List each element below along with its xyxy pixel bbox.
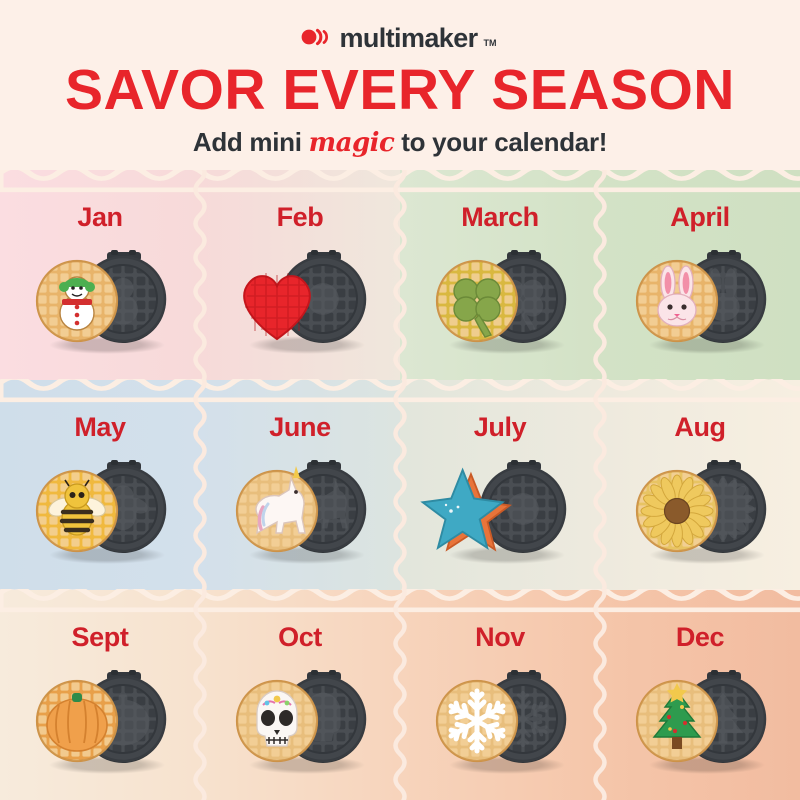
waffle-maker-sunflower <box>615 449 785 569</box>
month-cell-june[interactable]: June <box>200 380 400 590</box>
waffle-maker-shamrock <box>415 239 585 359</box>
month-cell-dec[interactable]: Dec <box>600 590 800 800</box>
waffle-maker-star <box>415 449 585 569</box>
month-label: Jan <box>77 204 122 231</box>
page-subtitle: Add mini magic to your calendar! <box>0 129 800 156</box>
product-image-star[interactable] <box>415 449 585 569</box>
month-cell-sept[interactable]: Sept <box>0 590 200 800</box>
product-image-christmas-tree[interactable] <box>615 659 785 779</box>
product-image-snowman[interactable] <box>15 239 185 359</box>
month-label: Sept <box>72 624 129 651</box>
product-image-bee[interactable] <box>15 449 185 569</box>
waffle-maker-snowman <box>15 239 185 359</box>
month-cell-oct[interactable]: Oct <box>200 590 400 800</box>
product-image-snowflake[interactable] <box>415 659 585 779</box>
brand-logo: multimaker TM <box>0 0 800 52</box>
month-cell-april[interactable]: April <box>600 170 800 380</box>
product-image-sunflower[interactable] <box>615 449 785 569</box>
waffle-maker-bee <box>15 449 185 569</box>
waffle-maker-unicorn <box>215 449 385 569</box>
month-cell-feb[interactable]: Feb <box>200 170 400 380</box>
month-label: April <box>670 204 730 231</box>
product-image-pumpkin[interactable] <box>15 659 185 779</box>
month-label: Feb <box>277 204 324 231</box>
icing-motif-snowman <box>59 277 95 330</box>
month-row: Jan <box>0 170 800 380</box>
waffle-maker-sugar-skull <box>215 659 385 779</box>
poster: multimaker TM SAVOR EVERY SEASON Add min… <box>0 0 800 800</box>
month-grid: Jan <box>0 170 800 800</box>
subtitle-emphasis: magic <box>309 128 395 158</box>
month-row: Sept <box>0 590 800 800</box>
month-label: June <box>269 414 330 441</box>
product-image-sugar-skull[interactable] <box>215 659 385 779</box>
subtitle-part-2: to your calendar! <box>394 127 607 157</box>
engraved-motif <box>307 283 339 315</box>
month-cell-july[interactable]: July <box>400 380 600 590</box>
month-label: March <box>461 204 539 231</box>
poster-header: multimaker TM SAVOR EVERY SEASON Add min… <box>0 0 800 170</box>
month-label: May <box>74 414 125 441</box>
month-cell-nov[interactable]: Nov <box>400 590 600 800</box>
month-cell-march[interactable]: March <box>400 170 600 380</box>
waffle-maker-pumpkin <box>15 659 185 779</box>
month-cell-aug[interactable]: Aug <box>600 380 800 590</box>
engraved-motif <box>507 493 539 525</box>
month-cell-may[interactable]: May <box>0 380 200 590</box>
brand-wordmark: multimaker <box>339 25 477 52</box>
product-image-bunny[interactable] <box>615 239 785 359</box>
month-label: July <box>474 414 526 441</box>
waffle-maker-bunny <box>615 239 785 359</box>
product-image-unicorn[interactable] <box>215 449 385 569</box>
waffle-maker-heart <box>215 239 385 359</box>
icing-motif-sunflower <box>641 475 713 547</box>
product-image-shamrock[interactable] <box>415 239 585 359</box>
month-cell-jan[interactable]: Jan <box>0 170 200 380</box>
trademark-symbol: TM <box>484 38 497 48</box>
broadcast-wave-icon <box>301 27 331 47</box>
month-label: Oct <box>278 624 322 651</box>
page-title: SAVOR EVERY SEASON <box>0 62 800 119</box>
waffle-maker-snowflake <box>415 659 585 779</box>
month-label: Dec <box>676 624 724 651</box>
month-label: Aug <box>674 414 725 441</box>
month-label: Nov <box>475 624 525 651</box>
subtitle-part-1: Add mini <box>193 127 309 157</box>
waffle-maker-christmas-tree <box>615 659 785 779</box>
month-row: May <box>0 380 800 590</box>
product-image-heart[interactable] <box>215 239 385 359</box>
